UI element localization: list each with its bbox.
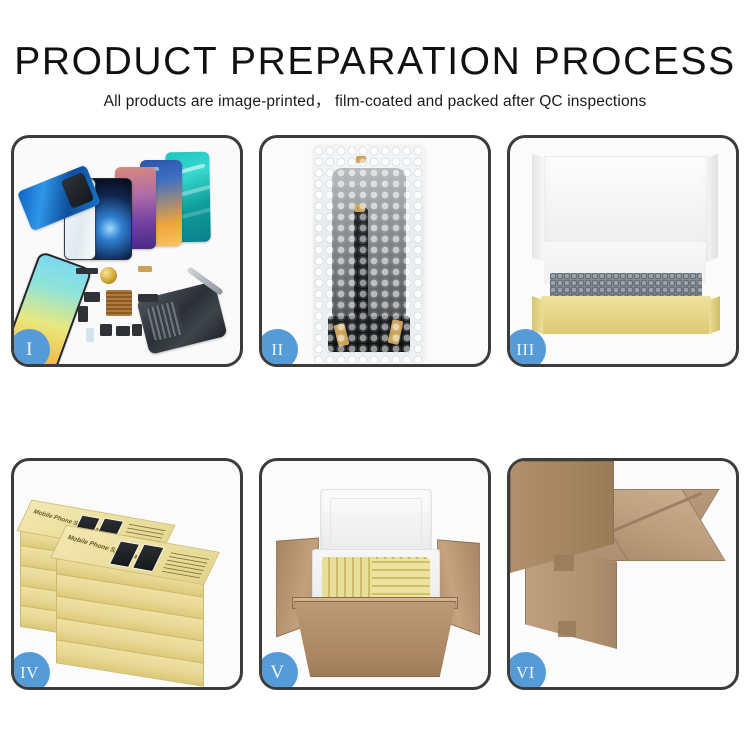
photo-carton-with-foam-insert bbox=[262, 461, 488, 687]
photo-stacked-retail-boxes: Mobile Phone Spare Parts Mobile Phone Sp… bbox=[14, 461, 240, 687]
photo-inner-box-with-foam bbox=[510, 138, 736, 364]
photo-products-and-parts bbox=[14, 138, 240, 364]
panel-stacked-retail-boxes: Mobile Phone Spare Parts Mobile Phone Sp… bbox=[11, 458, 243, 690]
chip-grid-component bbox=[106, 290, 132, 316]
wrapped-part-flex bbox=[354, 208, 368, 318]
tape-tab-top bbox=[356, 156, 366, 163]
panel-sealed-shipping-carton: VI bbox=[507, 458, 739, 690]
part-flex-cable bbox=[138, 294, 158, 302]
panel-bubble-wrapped-part: II bbox=[259, 135, 491, 367]
part-sensor bbox=[86, 328, 94, 342]
box-base-tray bbox=[541, 296, 711, 334]
part-strip-1 bbox=[76, 268, 98, 274]
photo-bubble-wrapped-part bbox=[262, 138, 488, 364]
part-small-2 bbox=[78, 306, 88, 322]
foam-box-lid bbox=[320, 489, 432, 557]
step-badge-1: I bbox=[11, 329, 50, 367]
carton-front-face bbox=[294, 601, 456, 677]
step-badge-5: V bbox=[259, 652, 298, 690]
bubble-wrap-bag bbox=[314, 146, 424, 362]
step-badge-3: III bbox=[507, 329, 546, 367]
step-badge-2: II bbox=[259, 329, 298, 367]
box-stack: Mobile Phone Spare Parts Mobile Phone Sp… bbox=[18, 477, 242, 677]
phone-back-housing-open bbox=[136, 281, 227, 355]
tape-tab-mid bbox=[354, 204, 365, 212]
box-spec-lines-front bbox=[162, 550, 211, 579]
process-step-grid: I II III bbox=[0, 0, 750, 750]
part-flex-gold bbox=[138, 266, 152, 272]
panel-carton-with-foam-insert: V bbox=[259, 458, 491, 690]
part-small-3 bbox=[100, 324, 112, 336]
step-badge-6: VI bbox=[507, 652, 546, 690]
panel-inner-box-with-foam: III bbox=[507, 135, 739, 367]
panel-products-and-parts: I bbox=[11, 135, 243, 367]
part-small-4 bbox=[132, 324, 142, 336]
packed-boxes-row-2 bbox=[372, 559, 430, 601]
carton-tape-upper bbox=[554, 555, 574, 571]
photo-sealed-shipping-carton bbox=[510, 461, 736, 687]
gold-component bbox=[100, 267, 117, 284]
part-small-1 bbox=[84, 292, 100, 302]
step-badge-4: IV bbox=[11, 652, 50, 690]
carton-tape-lower bbox=[558, 621, 576, 637]
part-camera bbox=[116, 326, 130, 336]
